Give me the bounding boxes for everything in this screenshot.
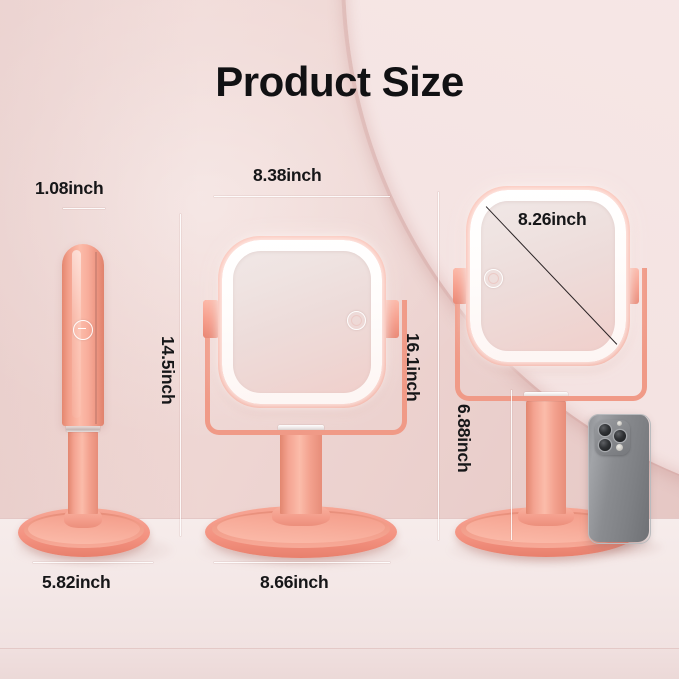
guide-full-height xyxy=(438,192,439,540)
phone-camera-lens-right xyxy=(614,430,626,442)
lowered-touch-sensor-inner xyxy=(488,273,499,284)
dimension-mirror-diagonal: 8.26inch xyxy=(518,209,586,230)
guide-base-width xyxy=(214,562,390,563)
guide-mirror-width xyxy=(214,196,390,197)
dimension-lowered-height: 6.88inch xyxy=(453,404,474,472)
phone-flash-icon xyxy=(616,444,623,451)
guide-folded-height xyxy=(180,214,181,536)
standing-pole xyxy=(280,432,322,514)
page-title: Product Size xyxy=(0,58,679,106)
guide-folded-base-width xyxy=(33,562,153,563)
dimension-folded-width: 1.08inch xyxy=(35,178,103,199)
floor-front-strip-line xyxy=(0,648,679,649)
floor-front-strip xyxy=(0,648,679,679)
folded-pole-lower xyxy=(68,430,98,514)
standing-pivot-left[interactable] xyxy=(203,300,219,338)
phone-camera-lens-left xyxy=(599,439,611,451)
dimension-base-width: 8.66inch xyxy=(260,572,328,593)
guide-lowered-height xyxy=(511,390,512,540)
folded-body-seam xyxy=(95,252,97,424)
folded-touch-sensor-bar xyxy=(78,328,86,329)
folded-touch-sensor-icon[interactable] xyxy=(73,320,93,340)
lowered-pole xyxy=(526,400,566,514)
dimension-folded-height: 14.5inch xyxy=(157,336,178,404)
guide-folded-width xyxy=(63,208,105,209)
product-size-infographic: Product Size 1.08inch 14.5inch 5.82inch xyxy=(0,0,679,679)
standing-touch-sensor-inner xyxy=(351,315,362,326)
dimension-folded-base-width: 5.82inch xyxy=(42,572,110,593)
phone-camera-lens-top xyxy=(599,424,611,436)
dimension-full-height: 16.1inch xyxy=(402,333,423,401)
dimension-mirror-width: 8.38inch xyxy=(253,165,321,186)
phone-lidar-icon xyxy=(617,421,622,426)
